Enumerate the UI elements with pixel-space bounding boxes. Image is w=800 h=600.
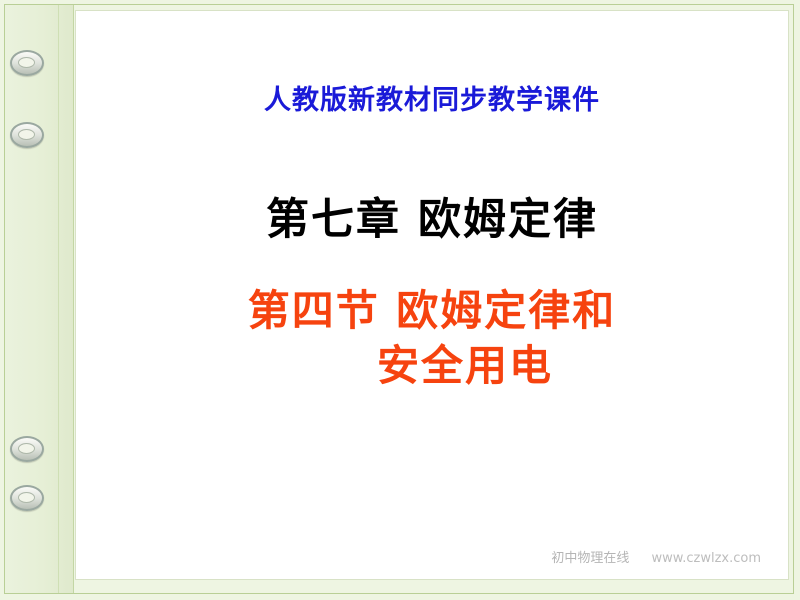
section-title: 第四节 欧姆定律和 安全用电	[75, 283, 789, 394]
section-title-line1: 第四节 欧姆定律和	[248, 286, 617, 335]
section-title-line2: 安全用电	[75, 338, 789, 393]
watermark-url: www.czwlzx.com	[652, 551, 761, 566]
binder-ring-hole	[18, 129, 35, 140]
binder-ring-icon	[10, 50, 44, 76]
watermark: 初中物理在线 www.czwlzx.com	[551, 547, 761, 566]
binder-ring-icon	[10, 436, 44, 462]
binder-ring-icon	[10, 485, 44, 511]
watermark-text: 初中物理在线	[551, 551, 629, 566]
binder-ring-hole	[18, 492, 35, 503]
binder-ring-icon	[10, 122, 44, 148]
spine-guide-line	[58, 5, 59, 593]
slide-subtitle: 人教版新教材同步教学课件	[75, 78, 789, 117]
binder-ring-hole	[18, 443, 35, 454]
binder-ring-hole	[18, 57, 35, 68]
slide-content: 人教版新教材同步教学课件 第七章 欧姆定律 第四节 欧姆定律和 安全用电 初中物…	[75, 10, 789, 580]
chapter-title: 第七章 欧姆定律	[75, 185, 789, 247]
presentation-slide: 人教版新教材同步教学课件 第七章 欧姆定律 第四节 欧姆定律和 安全用电 初中物…	[0, 0, 800, 600]
